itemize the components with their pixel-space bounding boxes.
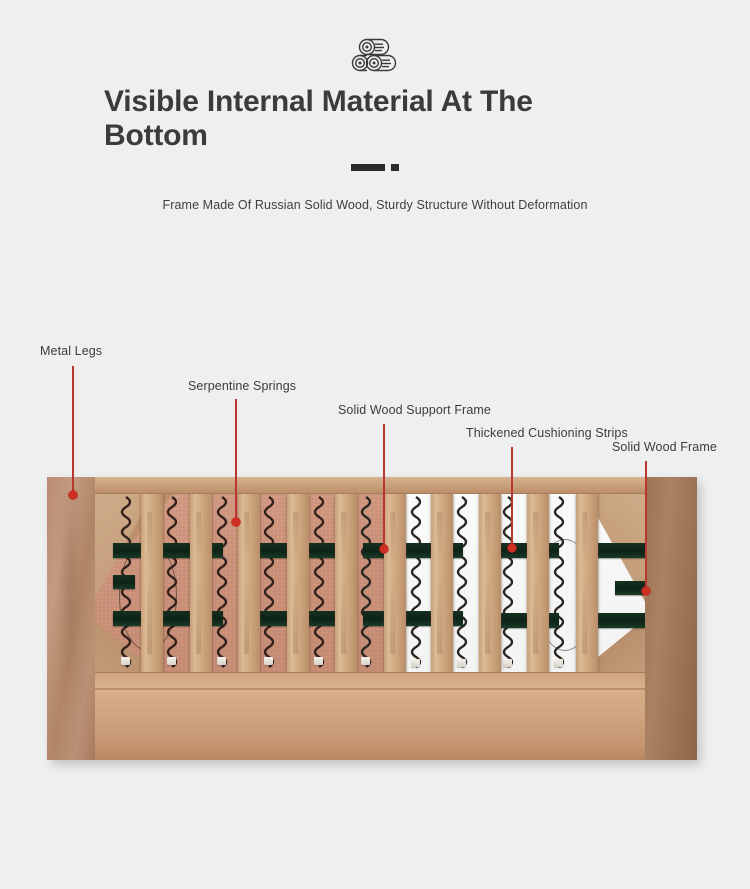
bottom-rail xyxy=(95,672,645,760)
page-title: Visible Internal Material At The Bottom xyxy=(104,85,574,153)
frame-cavity xyxy=(95,477,645,760)
callout-label: Serpentine Springs xyxy=(188,379,296,393)
serpentine-spring xyxy=(310,495,328,672)
photo-canvas xyxy=(47,477,697,760)
divider-dot xyxy=(391,164,399,171)
wood-support-slat xyxy=(190,494,212,672)
callout-leader-line xyxy=(383,424,385,549)
spring-clip xyxy=(554,659,563,667)
callout-dot xyxy=(641,587,650,596)
header-section: Visible Internal Material At The Bottom … xyxy=(0,0,750,56)
wood-support-slat xyxy=(238,494,260,672)
callout-leader-line xyxy=(72,366,74,495)
serpentine-spring xyxy=(499,495,517,672)
metal-leg-right xyxy=(645,477,697,760)
spring-clip xyxy=(457,659,466,667)
wood-support-slat xyxy=(384,494,406,672)
spring-clip xyxy=(314,657,323,665)
wood-support-slat xyxy=(141,494,163,672)
callout-leader-line xyxy=(235,399,237,522)
spring-clip xyxy=(121,657,130,665)
wood-support-slat xyxy=(431,494,453,672)
serpentine-spring xyxy=(407,495,425,672)
spring-clip xyxy=(167,657,176,665)
dash-dot-divider xyxy=(0,162,750,172)
callout-dot xyxy=(507,544,516,553)
wood-support-slat xyxy=(576,494,598,672)
metal-leg-left xyxy=(47,477,95,760)
serpentine-spring xyxy=(453,495,471,672)
wood-support-slat xyxy=(479,494,501,672)
callout-label: Metal Legs xyxy=(40,344,102,358)
base-plinth xyxy=(95,704,645,760)
wood-support-slat xyxy=(335,494,357,672)
spring-clip xyxy=(264,657,273,665)
callout-leader-line xyxy=(511,447,513,548)
spring-clip xyxy=(411,659,420,667)
divider-bar xyxy=(351,164,385,171)
serpentine-spring xyxy=(357,495,375,672)
callout-dot xyxy=(68,491,77,500)
spring-clip xyxy=(503,659,512,667)
callout-label: Solid Wood Support Frame xyxy=(338,403,491,417)
sofa-frame-photo xyxy=(47,477,697,760)
spring-clip xyxy=(217,657,226,665)
serpentine-spring xyxy=(260,495,278,672)
infographic-page: Visible Internal Material At The Bottom … xyxy=(0,0,750,889)
top-rail xyxy=(95,477,645,494)
callout-dot xyxy=(379,545,388,554)
callout-label: Solid Wood Frame xyxy=(612,440,717,454)
page-subtitle: Frame Made Of Russian Solid Wood, Sturdy… xyxy=(0,198,750,212)
cushioning-strip-stub xyxy=(113,575,135,589)
callout-dot xyxy=(231,518,240,527)
wood-support-slat xyxy=(287,494,309,672)
wood-support-slat xyxy=(527,494,549,672)
serpentine-spring xyxy=(213,495,231,672)
stacked-logs-icon xyxy=(0,0,750,56)
callout-leader-line xyxy=(645,461,647,591)
callout-label: Thickened Cushioning Strips xyxy=(466,426,628,440)
spring-clip xyxy=(361,657,370,665)
